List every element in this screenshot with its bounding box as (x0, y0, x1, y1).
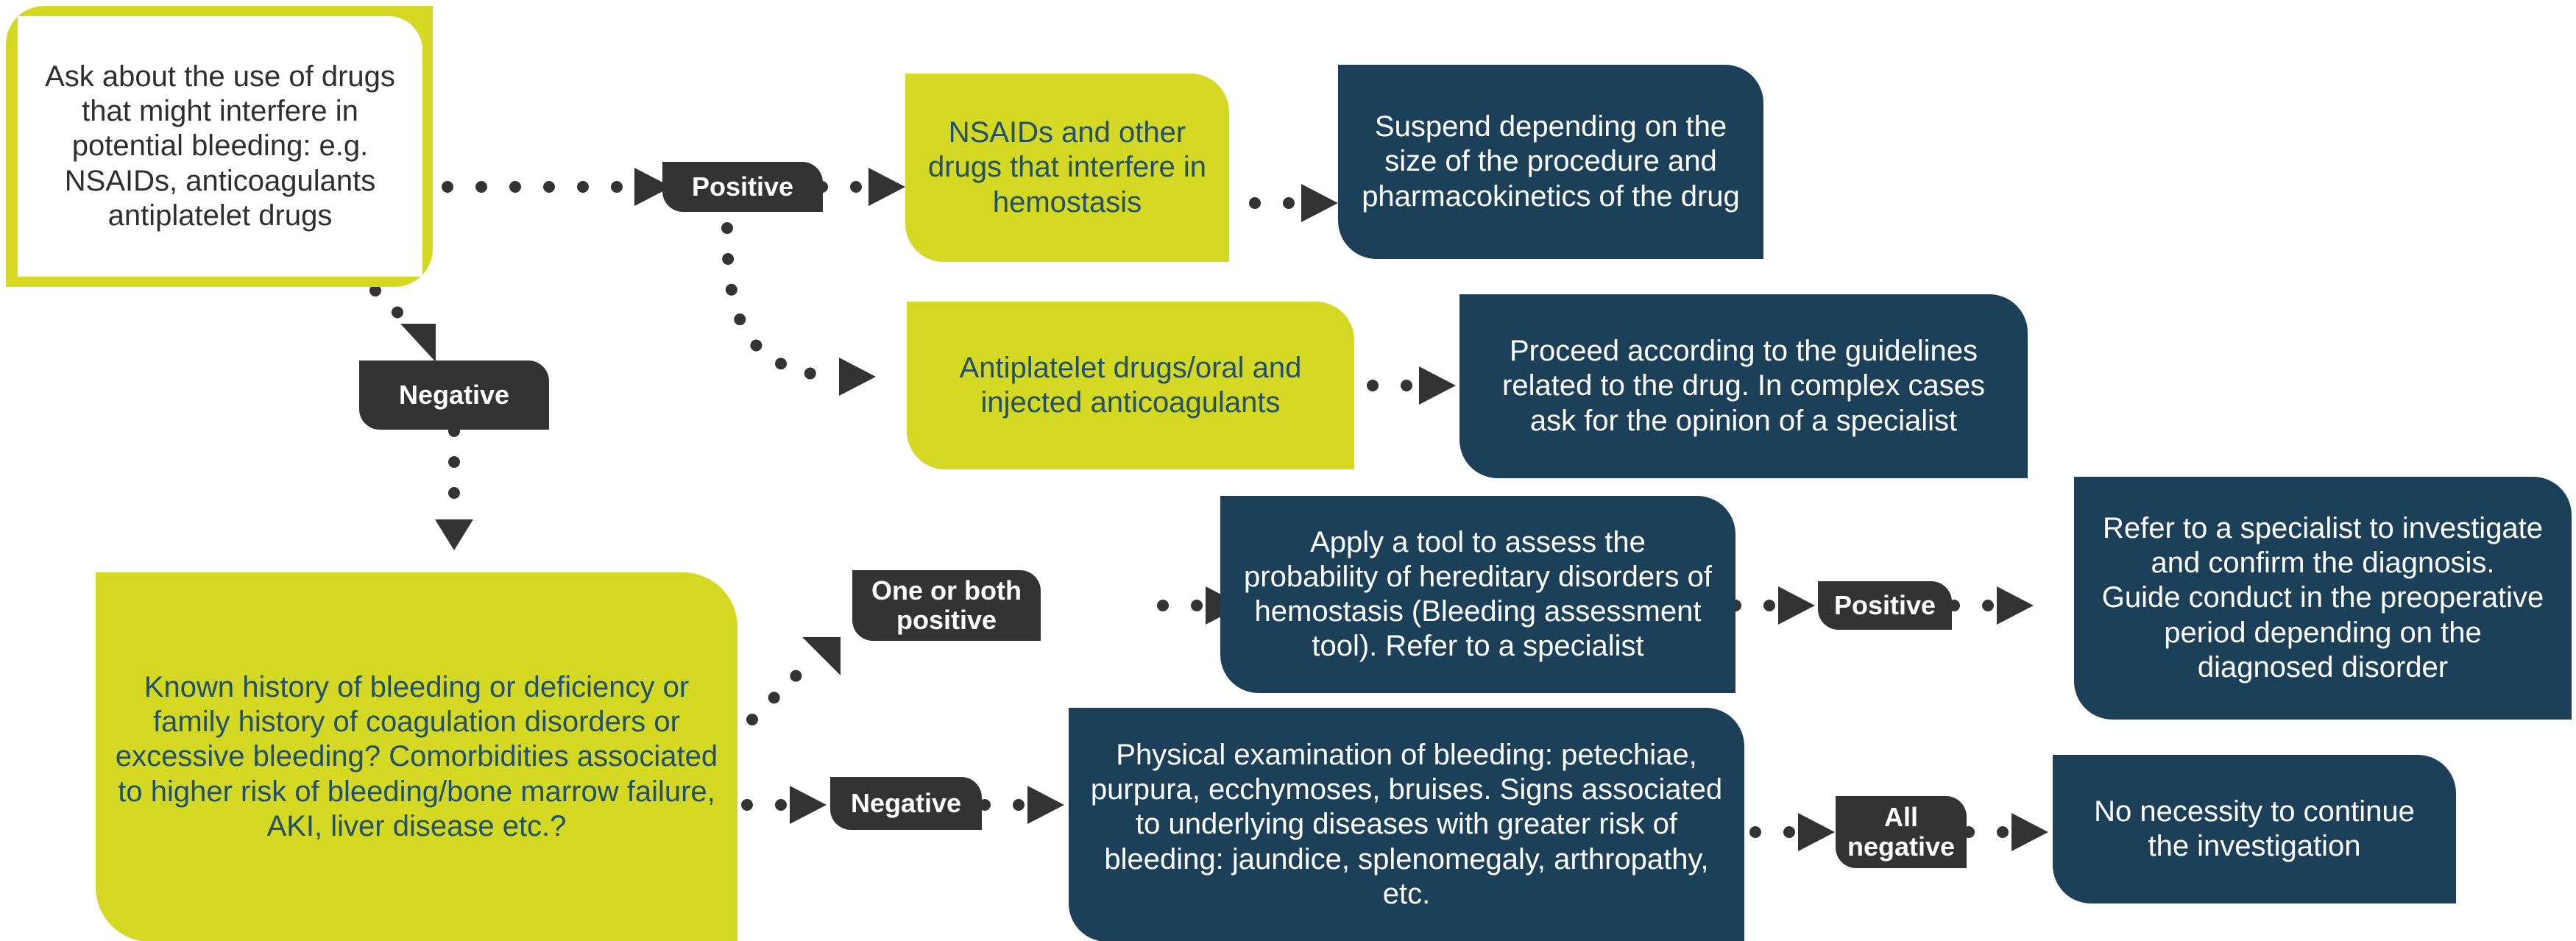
edge-physical-exam-to-all-negative (1755, 813, 1835, 851)
node-no-necessity-label: No necessity to continue the investigati… (2072, 795, 2437, 864)
badge-one-or-both-positive-label: One or both positive (871, 576, 1022, 636)
badge-negative-bottom[interactable]: Negative (830, 777, 982, 830)
node-ask-about-drugs[interactable]: Ask about the use of drugs that might in… (6, 6, 433, 287)
node-proceed-guidelines[interactable]: Proceed according to the guidelines rela… (1459, 294, 2028, 478)
badge-all-negative[interactable]: All negative (1836, 796, 1967, 868)
badge-all-negative-label: All negative (1847, 803, 1955, 862)
node-refer-specialist-label: Refer to a specialist to investigate and… (2093, 511, 2552, 685)
edge-negative-to-physical-exam (985, 786, 1064, 824)
edge-known-history-to-negative (747, 786, 827, 824)
node-antiplatelet-anticoagulants[interactable]: Antiplatelet drugs/oral and injected ant… (907, 302, 1354, 469)
edge-known-history-to-one-or-both (752, 637, 841, 720)
badge-negative-top-label: Negative (399, 380, 509, 410)
edge-negative-to-known-history (435, 431, 473, 550)
badge-positive-right-label: Positive (1834, 591, 1936, 620)
badge-negative-bottom-label: Negative (851, 789, 961, 818)
edge-positive-to-antiplatelet (727, 228, 876, 396)
node-proceed-guidelines-label: Proceed according to the guidelines rela… (1479, 334, 2009, 438)
node-ask-about-drugs-inner: Ask about the use of drugs that might in… (18, 16, 422, 277)
edge-apply-tool-to-positive (1735, 586, 1815, 625)
edge-all-negative-to-no-necessity (1969, 813, 2048, 851)
edge-antiplatelet-to-proceed (1373, 366, 1456, 405)
node-nsaids-interfere-label: NSAIDs and other drugs that interfere in… (921, 116, 1213, 220)
badge-negative-top[interactable]: Negative (359, 361, 549, 430)
node-apply-tool-label: Apply a tool to assess the probability o… (1239, 525, 1716, 664)
badge-positive-top[interactable]: Positive (662, 162, 823, 212)
edge-ask-to-negative (375, 291, 436, 362)
edge-nsaids-to-suspend (1255, 184, 1338, 222)
node-known-history[interactable]: Known history of bleeding or deficiency … (96, 572, 737, 941)
node-physical-exam[interactable]: Physical examination of bleeding: petech… (1069, 708, 1744, 941)
edge-ask-to-positive (447, 168, 671, 206)
node-physical-exam-label: Physical examination of bleeding: petech… (1088, 738, 1725, 912)
flowchart-canvas: .dot { stroke:#333333; stroke-width:16; … (0, 0, 2576, 941)
edge-positive-to-refer (1954, 586, 2034, 625)
badge-positive-top-label: Positive (692, 172, 793, 202)
node-suspend-drug[interactable]: Suspend depending on the size of the pro… (1338, 65, 1763, 259)
node-nsaids-interfere[interactable]: NSAIDs and other drugs that interfere in… (905, 74, 1229, 262)
edge-positive-to-nsaids (822, 168, 905, 206)
node-antiplatelet-anticoagulants-label: Antiplatelet drugs/oral and injected ant… (923, 351, 1338, 420)
node-refer-specialist[interactable]: Refer to a specialist to investigate and… (2074, 477, 2572, 720)
node-ask-about-drugs-label: Ask about the use of drugs that might in… (31, 60, 409, 233)
badge-one-or-both-positive[interactable]: One or both positive (852, 570, 1041, 641)
node-no-necessity[interactable]: No necessity to continue the investigati… (2053, 755, 2456, 903)
node-apply-tool[interactable]: Apply a tool to assess the probability o… (1220, 496, 1735, 693)
badge-positive-right[interactable]: Positive (1818, 581, 1952, 630)
node-suspend-drug-label: Suspend depending on the size of the pro… (1357, 110, 1744, 214)
node-known-history-label: Known history of bleeding or deficiency … (112, 670, 721, 844)
